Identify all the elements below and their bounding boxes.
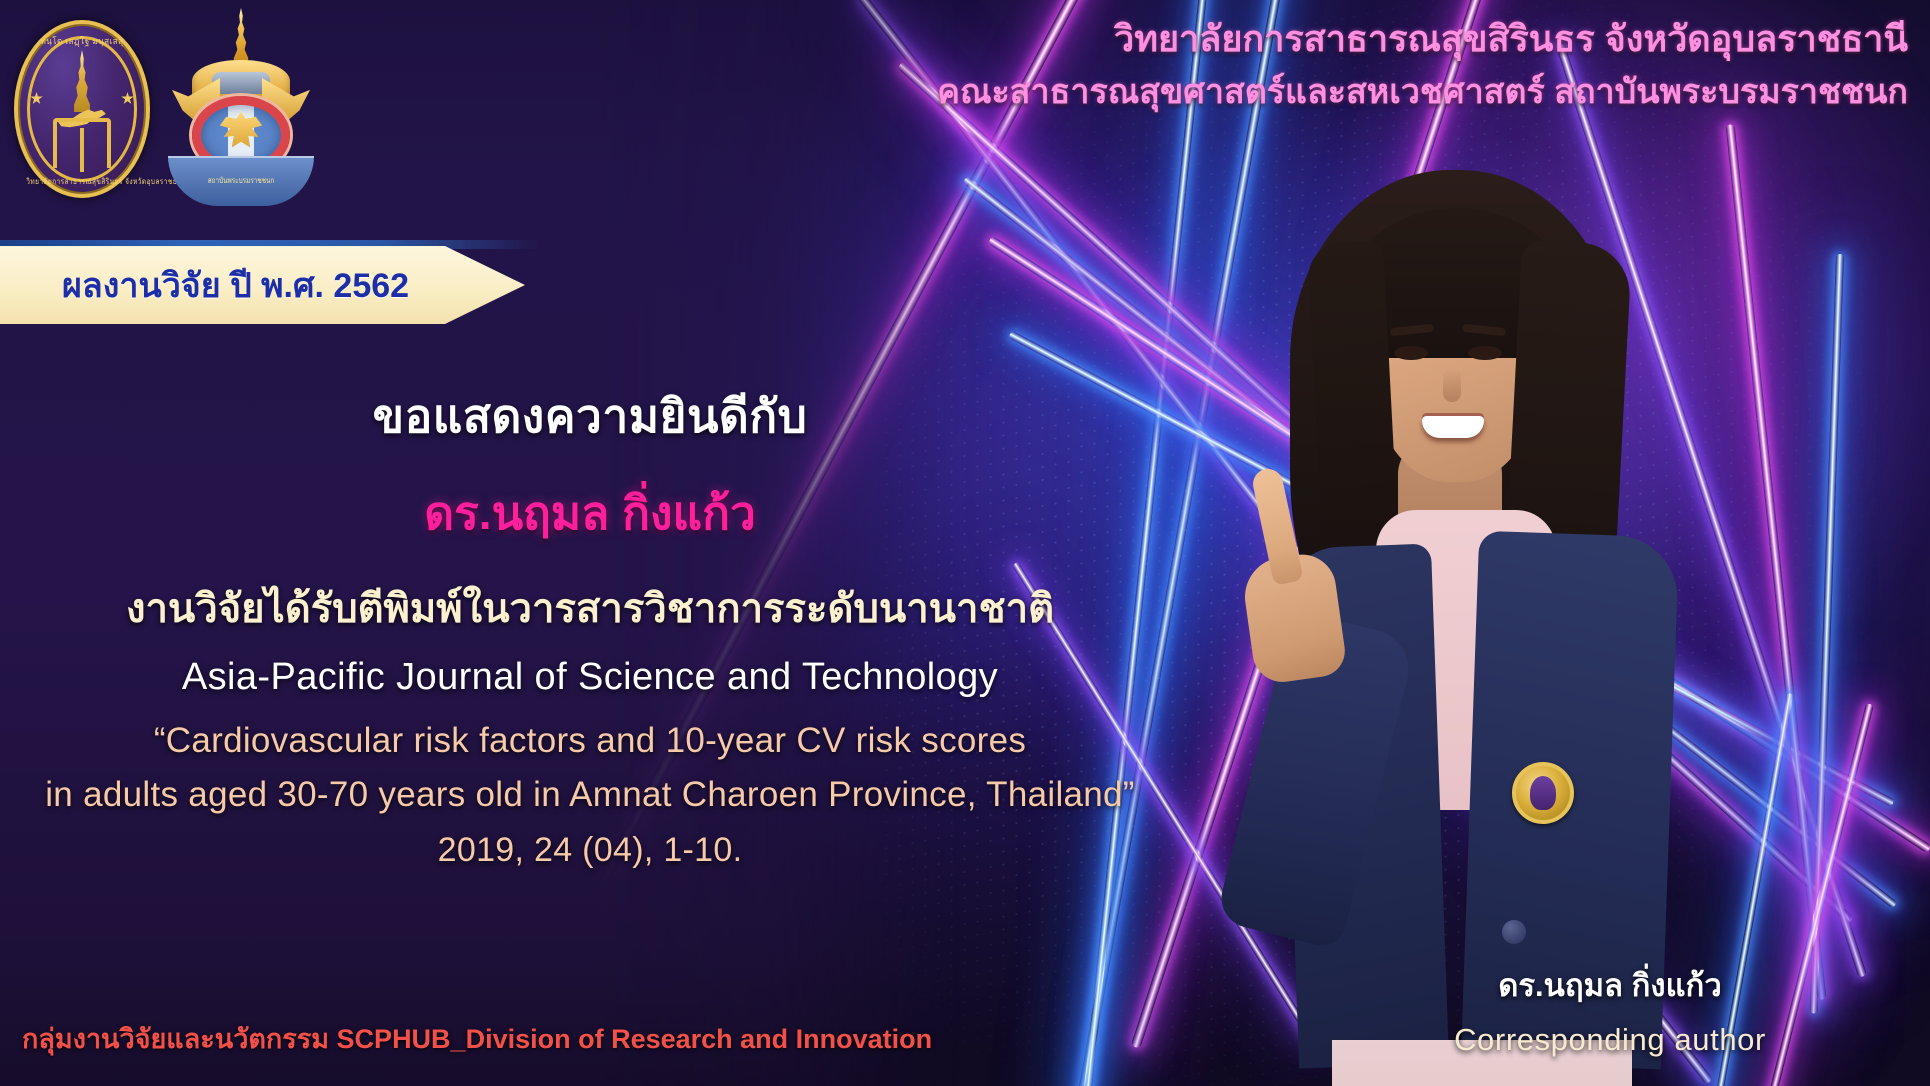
caption-name: ดร.นฤมล กิ่งแก้ว (1300, 960, 1920, 1010)
footer-credit: กลุ่มงานวิจัยและนวัตกรรม SCPHUB_Division… (22, 1017, 932, 1060)
emblem-ribbon: สถาบันพระบรมราชชนก (168, 156, 314, 206)
blazer-button (1502, 920, 1526, 944)
poster-canvas: ทนฺโต เสฏฺโฐ มนุสฺเสสุ วิทยาลัยการสาธารณ… (0, 0, 1930, 1086)
blazer-crest-icon (1512, 762, 1574, 824)
emblem-ribbon-text: สถาบันพระบรมราชชนก (183, 174, 300, 187)
journal-name: Asia-Pacific Journal of Science and Tech… (0, 656, 1180, 699)
smiling-mouth (1422, 416, 1484, 438)
eye-right (1468, 346, 1502, 360)
congratulations-text: ขอแสดงความยินดีกับ (0, 380, 1180, 453)
article-citation: 2019, 24 (04), 1-10. (0, 831, 1180, 870)
main-content: ขอแสดงความยินดีกับ ดร.นฤมล กิ่งแก้ว งานว… (0, 380, 1180, 870)
researcher-photo (1140, 150, 1780, 1086)
eye-left (1394, 346, 1428, 360)
institution-logos: ทนฺโต เสฏฺโฐ มนุสฺเสสุ วิทยาลัยการสาธารณ… (0, 4, 330, 219)
seal-motto-text: ทนฺโต เสฏฺโฐ มนุสฺเสสุ (21, 34, 143, 48)
college-name-line: วิทยาลัยการสาธารณสุขสิรินธร จังหวัดอุบลร… (658, 16, 1908, 61)
nose (1443, 368, 1461, 402)
royal-emblem-icon: สถาบันพระบรมราชชนก (166, 8, 316, 206)
article-title-line-1: “Cardiovascular risk factors and 10-year… (0, 721, 1180, 761)
publication-note: งานวิจัยได้รับตีพิมพ์ในวารสารวิชาการระดั… (0, 576, 1180, 640)
seal-college-text: วิทยาลัยการสาธารณสุขสิรินธร จังหวัดอุบลร… (26, 175, 138, 188)
scphub-seal-icon: ทนฺโต เสฏฺโฐ มนุสฺเสสุ วิทยาลัยการสาธารณ… (14, 20, 150, 198)
honoree-name: ดร.นฤมล กิ่งแก้ว (0, 477, 1180, 550)
year-banner-label: ผลงานวิจัย ปี พ.ศ. 2562 (0, 258, 409, 312)
header-titles: วิทยาลัยการสาธารณสุขสิรินธร จังหวัดอุบลร… (658, 16, 1908, 114)
article-title-line-2: in adults aged 30-70 years old in Amnat … (0, 775, 1180, 815)
year-banner: ผลงานวิจัย ปี พ.ศ. 2562 (0, 246, 525, 324)
caption-role: Corresponding author (1300, 1022, 1920, 1058)
faculty-name-line: คณะสาธารณสุขศาสตร์และสหเวชศาสตร์ สถาบันพ… (658, 71, 1908, 114)
seal-gate-icon (53, 118, 111, 168)
photo-caption: ดร.นฤมล กิ่งแก้ว Corresponding author (1300, 960, 1920, 1058)
